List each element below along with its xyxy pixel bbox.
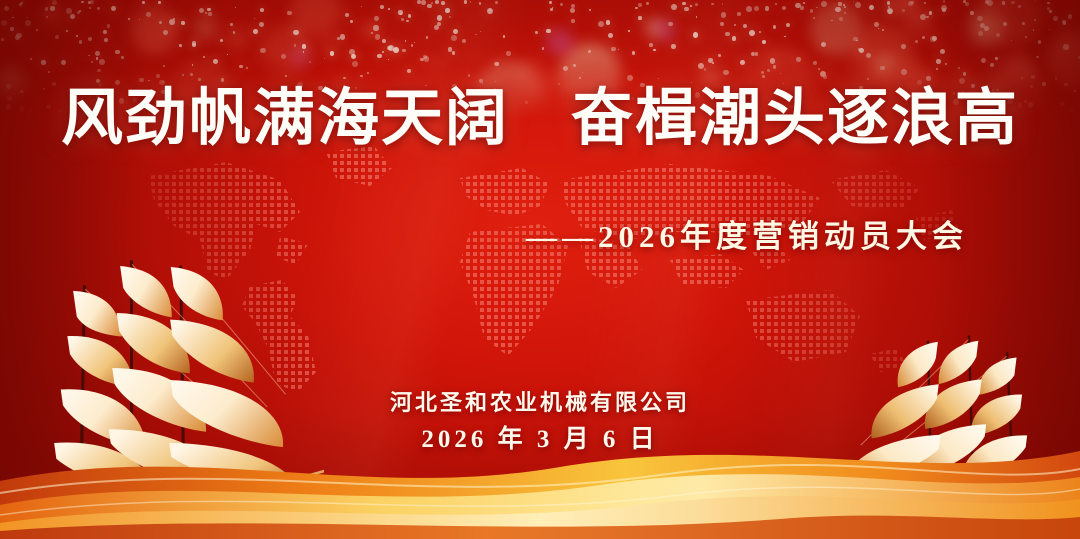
event-date: 2026 年 3 月 6 日 — [0, 419, 1080, 455]
conference-backdrop-poster: 风劲帆满海天阔奋楫潮头逐浪高 ——2026年度营销动员大会 河北圣和农业机械有限… — [0, 0, 1080, 539]
poster-text-content: 风劲帆满海天阔奋楫潮头逐浪高 ——2026年度营销动员大会 河北圣和农业机械有限… — [0, 0, 1080, 539]
page-title: 风劲帆满海天阔奋楫潮头逐浪高 — [0, 88, 1080, 150]
event-subtitle: ——2026年度营销动员大会 — [0, 211, 1080, 256]
organization-name: 河北圣和农业机械有限公司 — [0, 385, 1080, 417]
headline-right: 奋楫潮头逐浪高 — [571, 84, 1019, 153]
headline-left: 风劲帆满海天阔 — [61, 84, 509, 153]
